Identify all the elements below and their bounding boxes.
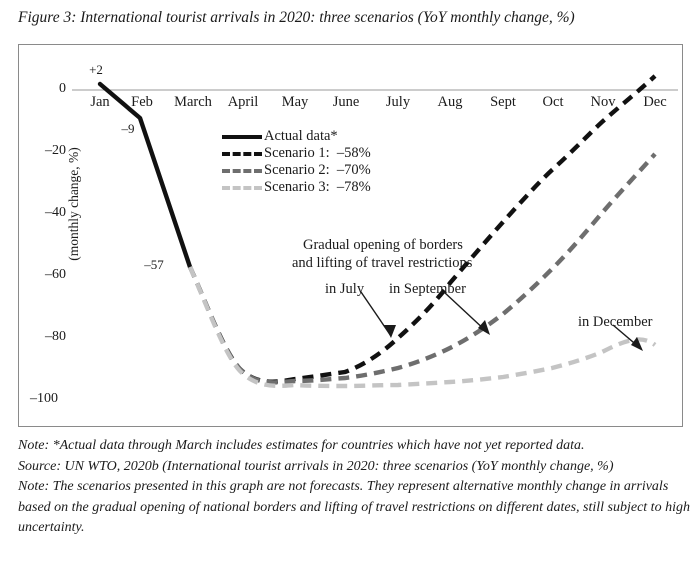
y-tick-60: –60 (22, 267, 66, 283)
x-tick-march: March (174, 94, 212, 111)
legend-swatch-scenario-1 (222, 152, 262, 156)
annotation-in-september: in September (389, 280, 466, 298)
legend-item-scenario-2: Scenario 2: –70% (222, 162, 371, 179)
y-tick-40: –40 (22, 205, 66, 221)
y-tick-20: –20 (22, 143, 66, 159)
x-tick-nov: Nov (591, 94, 616, 111)
note-source: Source: UN WTO, 2020b (International tou… (18, 457, 690, 478)
x-tick-april: April (228, 94, 259, 111)
legend-swatch-actual-data (222, 135, 262, 139)
annotation-in-december: in December (578, 313, 652, 331)
x-tick-jan: Jan (90, 94, 109, 111)
legend-label-actual-data: Actual data* (264, 128, 338, 145)
x-tick-sept: Sept (490, 94, 516, 111)
x-tick-feb: Feb (131, 94, 153, 111)
chart-legend: Actual data* Scenario 1: –58% Scenario 2… (222, 128, 371, 196)
y-tick-0: 0 (22, 81, 66, 97)
x-tick-dec: Dec (643, 94, 666, 111)
figure-notes: Note: *Actual data through March include… (18, 436, 690, 539)
y-tick-100: –100 (14, 391, 58, 407)
legend-label-scenario-2: Scenario 2: –70% (264, 162, 371, 179)
x-tick-may: May (282, 94, 309, 111)
data-label-jan: +2 (89, 62, 103, 78)
series-scenario-1-line (190, 76, 655, 382)
note-1-text: Note: *Actual data through March include… (18, 438, 585, 453)
data-label-feb: –9 (122, 121, 135, 137)
annotation-borders-line-2: and lifting of travel restrictions (292, 254, 472, 272)
annotation-arrowhead-july (384, 325, 396, 338)
x-tick-june: June (333, 94, 360, 111)
annotation-borders-line-1: Gradual opening of borders (303, 236, 463, 254)
legend-item-scenario-1: Scenario 1: –58% (222, 145, 371, 162)
legend-label-scenario-1: Scenario 1: –58% (264, 145, 371, 162)
note-actual-data: Note: *Actual data through March include… (18, 436, 690, 457)
legend-label-scenario-3: Scenario 3: –78% (264, 179, 371, 196)
x-tick-oct: Oct (543, 94, 564, 111)
x-tick-july: July (386, 94, 410, 111)
note-scenarios: Note: The scenarios presented in this gr… (18, 477, 690, 539)
series-actual-data-line (100, 84, 190, 267)
y-tick-80: –80 (22, 329, 66, 345)
legend-item-scenario-3: Scenario 3: –78% (222, 179, 371, 196)
y-axis-title: (monthly change, %) (66, 124, 82, 284)
annotation-in-july: in July (325, 280, 364, 298)
data-label-march: –57 (144, 257, 164, 273)
legend-item-actual-data: Actual data* (222, 128, 371, 145)
x-tick-aug: Aug (438, 94, 463, 111)
legend-swatch-scenario-3 (222, 186, 262, 190)
legend-swatch-scenario-2 (222, 169, 262, 173)
